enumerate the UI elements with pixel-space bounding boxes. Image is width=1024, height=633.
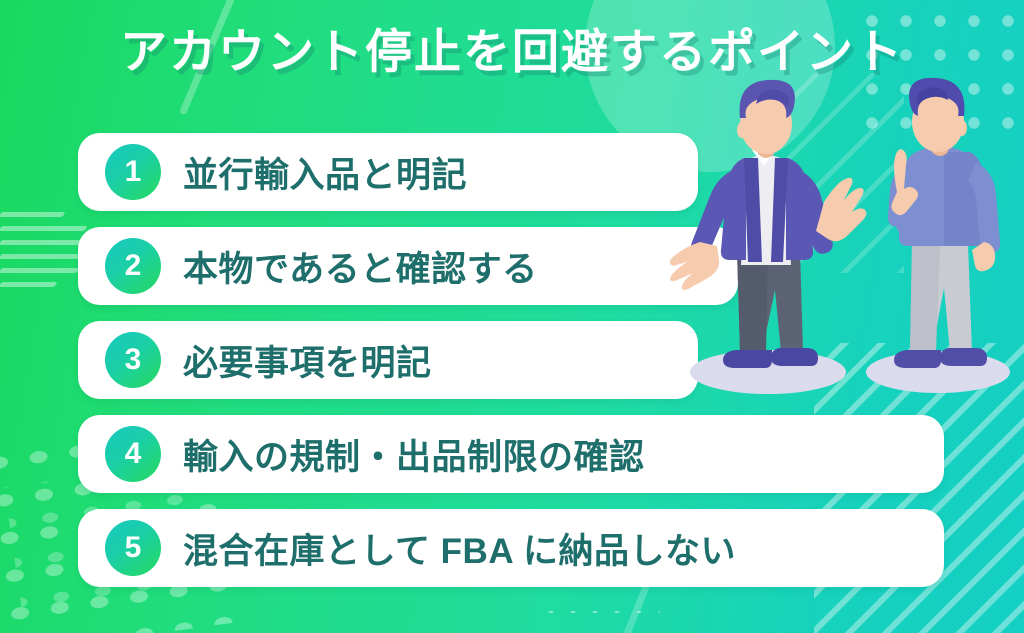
item-label: 混合在庫として FBA に納品しない xyxy=(183,523,736,574)
item-label: 必要事項を明記 xyxy=(183,335,432,386)
list-item: 5 混合在庫として FBA に納品しない xyxy=(78,509,944,587)
item-number-badge: 3 xyxy=(105,332,161,388)
item-number-badge: 4 xyxy=(105,426,161,482)
mini-dot-dashes xyxy=(540,607,660,617)
item-label: 本物であると確認する xyxy=(183,241,538,292)
item-label: 輸入の規制・出品制限の確認 xyxy=(183,429,645,480)
list-item: 4 輸入の規制・出品制限の確認 xyxy=(78,415,944,493)
item-number-badge: 5 xyxy=(105,520,161,576)
list-item: 1 並行輸入品と明記 xyxy=(78,133,698,211)
poster-title: アカウント停止を回避するポイント xyxy=(120,26,904,78)
item-number-badge: 1 xyxy=(105,144,161,200)
point-list: 1 並行輸入品と明記 2 本物であると確認する 3 必要事項を明記 4 輸入の規… xyxy=(78,133,944,603)
item-label: 並行輸入品と明記 xyxy=(183,147,467,198)
item-number-badge: 2 xyxy=(105,238,161,294)
infographic-poster: アカウント停止を回避するポイント 1 並行輸入品と明記 2 本物であると確認する… xyxy=(0,0,1024,633)
list-item: 2 本物であると確認する xyxy=(78,227,738,305)
poster-title-container: アカウント停止を回避するポイント xyxy=(0,26,1024,78)
list-item: 3 必要事項を明記 xyxy=(78,321,698,399)
